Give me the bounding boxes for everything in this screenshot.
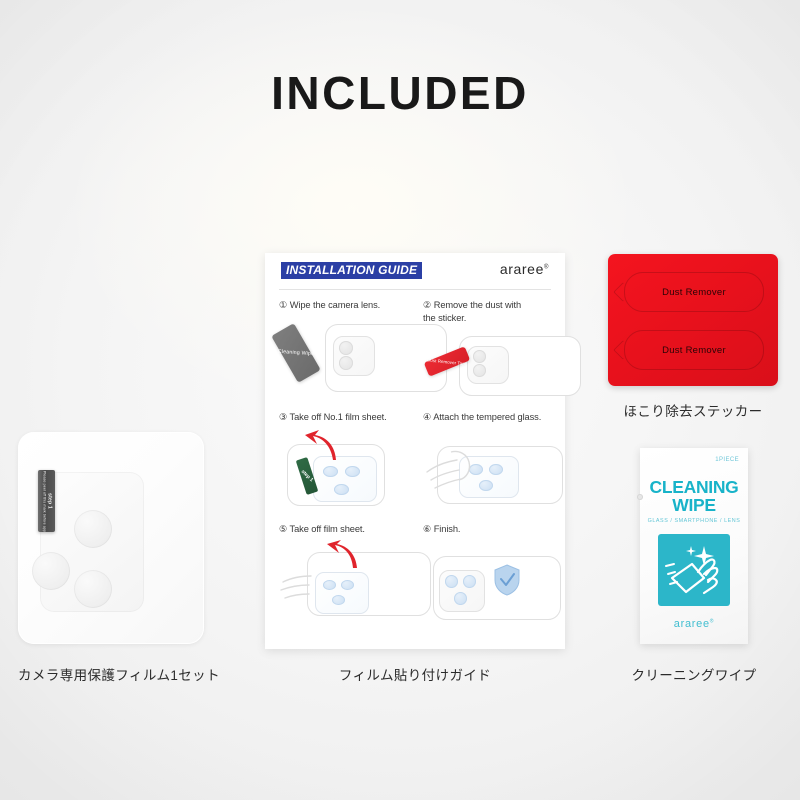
camera-lens-dot [445, 575, 458, 588]
film-peel-tab-instruction: Please peel off this mark before applica… [42, 471, 46, 532]
camera-protective-film [18, 432, 204, 644]
peel-arrow-icon [303, 430, 337, 462]
film-peel-tab-step: step 1 [46, 471, 52, 531]
wipe-illustration [658, 534, 730, 606]
camera-lens-dot [339, 356, 353, 370]
dust-remover-tab: Dust Remover [624, 330, 764, 370]
araree-logo: araree® [500, 261, 549, 277]
glass-lens-dot [341, 580, 354, 590]
glass-lens-dot [479, 480, 493, 491]
guide-step-5: ⑤ Take off film sheet. [279, 523, 425, 620]
shield-check-icon [493, 564, 521, 596]
cleaning-wipe-cloth: Cleaning Wipe [271, 323, 321, 383]
guide-step-4-art [423, 430, 569, 508]
wipe-subtitle: GLASS / SMARTPHONE / LENS [640, 518, 748, 524]
glass-lens-dot [332, 595, 345, 605]
registered-mark-icon: ® [710, 618, 714, 624]
caption-dust-sticker: ほこり除去ステッカー [608, 400, 778, 420]
film-peel-tab-text: step 1 Please peel off this mark before … [41, 471, 52, 531]
camera-lens-dot [473, 364, 486, 377]
glass-lens-dot [323, 466, 338, 477]
film-peel-tab: step 1 Please peel off this mark before … [38, 470, 55, 532]
guide-step-6: ⑥ Finish. [423, 523, 569, 620]
film-lens-hole [74, 510, 112, 548]
caption-cleaning-wipe: クリーニングワイプ [624, 664, 764, 684]
film-lens-hole [32, 552, 70, 590]
installation-guide-sheet: INSTALLATION GUIDE araree® ① Wipe the ca… [265, 253, 565, 649]
guide-step-2-label: ② Remove the dust with the sticker. [423, 299, 569, 324]
wipe-piece-count: 1PIECE [715, 457, 739, 463]
guide-step-5-art [279, 542, 425, 620]
wipe-title-line1: CLEANING [640, 478, 748, 496]
araree-logo-text: araree [500, 261, 544, 277]
guide-step-2: ② Remove the dust with the sticker. Dust… [423, 299, 569, 404]
glass-lens-dot [345, 466, 360, 477]
peel-arrow-icon [325, 540, 359, 570]
camera-lens-dot [339, 341, 353, 355]
camera-lens-dot [473, 350, 486, 363]
wipe-title-line2: WIPE [640, 496, 748, 514]
dust-remover-tab-label: Dust Remover [662, 345, 726, 356]
dust-remover-tab-label: Dust Remover [662, 287, 726, 298]
camera-lens-dot [454, 592, 467, 605]
guide-step-4: ④ Attach the tempered glass. [423, 411, 569, 508]
hand-icon [279, 568, 325, 612]
guide-step-3-label: ③ Take off No.1 film sheet. [279, 411, 425, 424]
araree-logo-text: araree [674, 618, 710, 630]
caption-camera-film: カメラ専用保護フィルム1セット [18, 664, 208, 684]
guide-step-1-label: ① Wipe the camera lens. [279, 299, 425, 312]
product-image-canvas: INCLUDED step 1 Please peel off this mar… [0, 0, 800, 800]
camera-lens-dot [463, 575, 476, 588]
guide-step-3: ③ Take off No.1 film sheet. step 1 [279, 411, 425, 508]
dust-remover-sticker: Dust Remover Dust Remover [608, 254, 778, 386]
guide-header: INSTALLATION GUIDE araree® [265, 253, 565, 287]
camera-bump [439, 570, 485, 612]
guide-divider [279, 289, 551, 290]
guide-step-5-label: ⑤ Take off film sheet. [279, 523, 425, 536]
tempered-glass-sheet [313, 456, 377, 502]
registered-mark-icon: ® [544, 264, 549, 270]
guide-step-3-art: step 1 [279, 430, 425, 508]
guide-badge: INSTALLATION GUIDE [281, 262, 422, 279]
dust-remover-tape-label: Dust Remover Tape [427, 357, 468, 366]
cleaning-wipe-packet: 1PIECE CLEANING WIPE GLASS / SMARTPHONE … [640, 448, 748, 644]
guide-step-6-art [423, 542, 569, 620]
hand-wiping-icon [658, 534, 730, 606]
guide-step-6-label: ⑥ Finish. [423, 523, 569, 536]
camera-bump [333, 336, 375, 376]
caption-installation-guide: フィルム貼り付けガイド [265, 664, 565, 684]
film-lens-hole [74, 570, 112, 608]
guide-step-1-art: Cleaning Wipe [279, 318, 425, 396]
dust-remover-tab: Dust Remover [624, 272, 764, 312]
guide-step-1: ① Wipe the camera lens. Cleaning Wipe [279, 299, 425, 396]
hand-icon [421, 446, 477, 496]
guide-step-2-art: Dust Remover Tape [423, 326, 569, 404]
cleaning-wipe-cloth-label: Cleaning Wipe [278, 348, 315, 357]
wipe-title: CLEANING WIPE [640, 478, 748, 515]
glass-lens-dot [489, 464, 503, 475]
guide-step-4-label: ④ Attach the tempered glass. [423, 411, 569, 424]
page-title: INCLUDED [0, 66, 800, 120]
araree-logo: araree® [640, 618, 748, 630]
glass-lens-dot [334, 484, 349, 495]
